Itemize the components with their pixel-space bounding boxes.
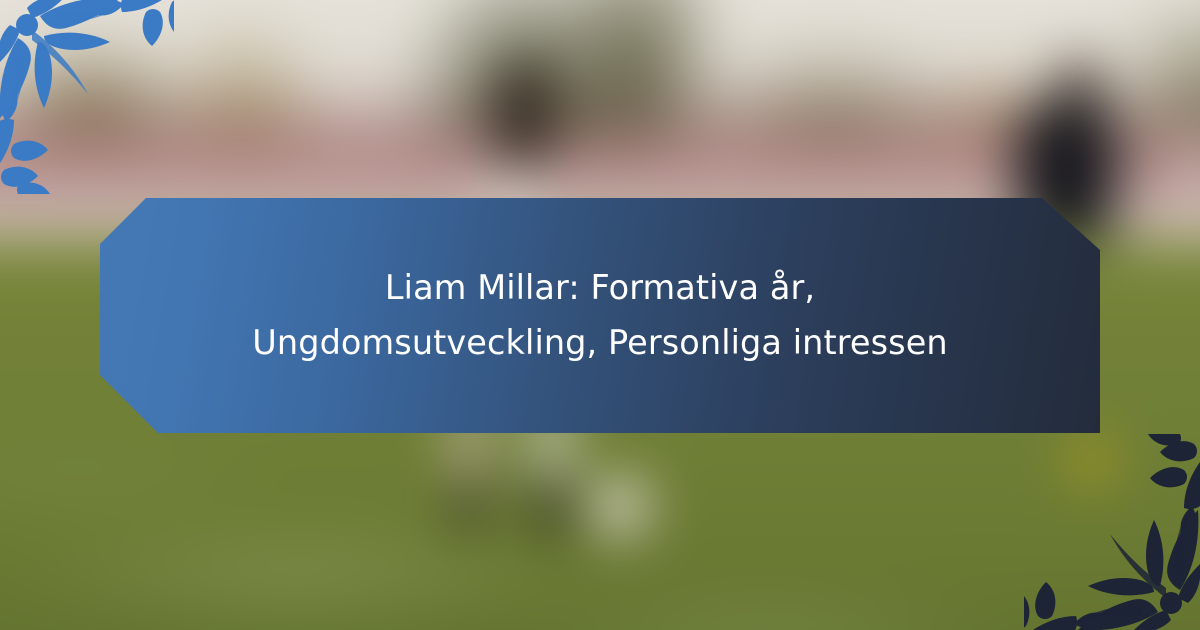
floral-corner-ornament-top-left <box>0 0 174 194</box>
page-title: Liam Millar: Formativa år, Ungdomsutveck… <box>220 261 980 370</box>
photo-football <box>592 479 652 539</box>
photo-player-left-head <box>496 58 550 172</box>
banner-canvas: Liam Millar: Formativa år, Ungdomsutveck… <box>0 0 1200 630</box>
title-banner: Liam Millar: Formativa år, Ungdomsutveck… <box>100 198 1100 433</box>
photo-player-right-head <box>1056 58 1102 112</box>
floral-corner-ornament-bottom-right <box>1024 434 1200 630</box>
